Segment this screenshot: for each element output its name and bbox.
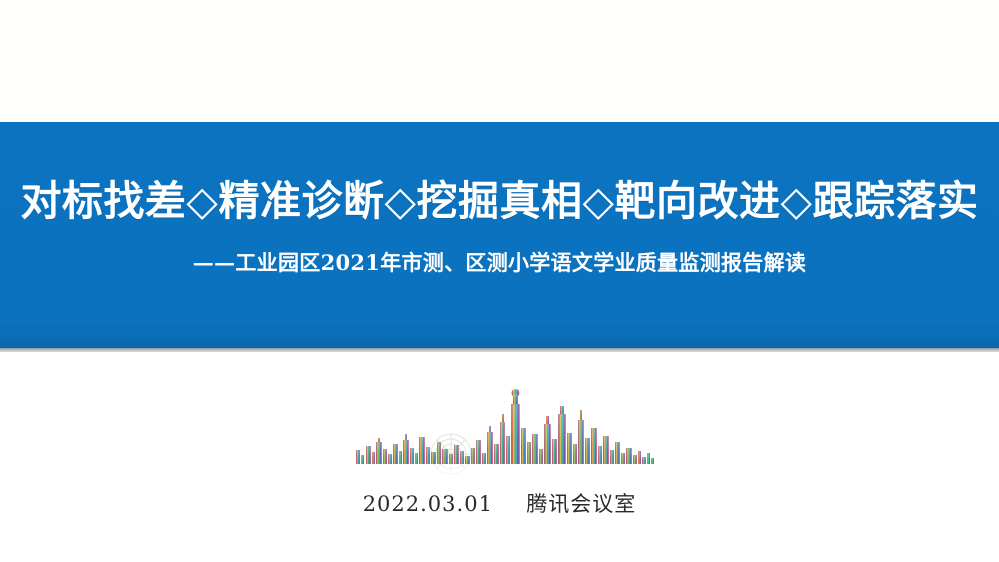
- footer-venue: 腾讯会议室: [526, 492, 636, 516]
- title-banner: [0, 122, 999, 348]
- page-title: 对标找差◇精准诊断◇挖掘真相◇靶向改进◇跟踪落实: [0, 176, 999, 226]
- page-subtitle: ——工业园区2021年市测、区测小学语文学业质量监测报告解读: [0, 249, 999, 277]
- city-skyline-icon: [340, 378, 660, 490]
- presentation-slide: 对标找差◇精准诊断◇挖掘真相◇靶向改进◇跟踪落实 ——工业园区2021年市测、区…: [0, 0, 999, 562]
- slide-footer: 2022.03.01 腾讯会议室: [0, 490, 999, 518]
- slide-top-margin: [0, 0, 999, 122]
- footer-date: 2022.03.01: [363, 492, 493, 516]
